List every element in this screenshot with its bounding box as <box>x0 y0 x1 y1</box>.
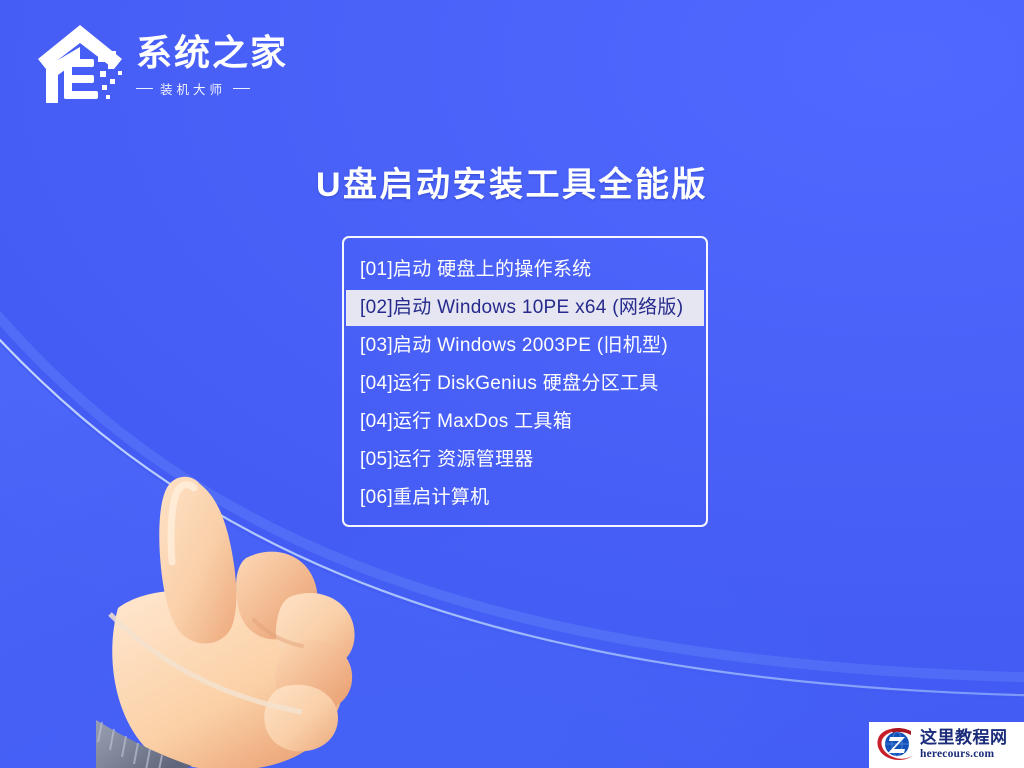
boot-menu-item-02[interactable]: [02]启动 Windows 10PE x64 (网络版) <box>346 290 704 326</box>
house-pixel-logo-icon <box>34 19 126 109</box>
brand-tagline: 装机大师 <box>160 79 226 98</box>
herecours-globe-z-icon <box>875 725 917 765</box>
boot-menu-screen: 系统之家 装机大师 U盘启动安装工具全能版 [01]启动 硬盘上的操作系统 [0… <box>0 0 1024 768</box>
brand-tagline-row: 装机大师 <box>136 79 288 98</box>
boot-menu-item-03[interactable]: [03]启动 Windows 2003PE (旧机型) <box>346 328 704 364</box>
boot-menu-item-04-diskgenius[interactable]: [04]运行 DiskGenius 硬盘分区工具 <box>346 366 704 402</box>
tagline-dash-left <box>136 88 153 90</box>
watermark-domain: herecours.com <box>920 749 1008 761</box>
brand-name: 系统之家 <box>136 34 288 72</box>
brand-logo: 系统之家 装机大师 <box>34 16 284 112</box>
watermark-site-name: 这里教程网 <box>920 729 1008 746</box>
boot-menu-item-05[interactable]: [05]运行 资源管理器 <box>346 442 704 478</box>
tagline-dash-right <box>233 88 250 90</box>
watermark: 这里教程网 herecours.com <box>869 722 1024 768</box>
boot-menu-list: [01]启动 硬盘上的操作系统 [02]启动 Windows 10PE x64 … <box>342 236 708 527</box>
boot-menu-item-06[interactable]: [06]重启计算机 <box>346 480 704 516</box>
page-title: U盘启动安装工具全能版 <box>0 157 1024 206</box>
boot-menu-item-04-maxdos[interactable]: [04]运行 MaxDos 工具箱 <box>346 404 704 440</box>
boot-menu-item-01[interactable]: [01]启动 硬盘上的操作系统 <box>346 252 704 288</box>
